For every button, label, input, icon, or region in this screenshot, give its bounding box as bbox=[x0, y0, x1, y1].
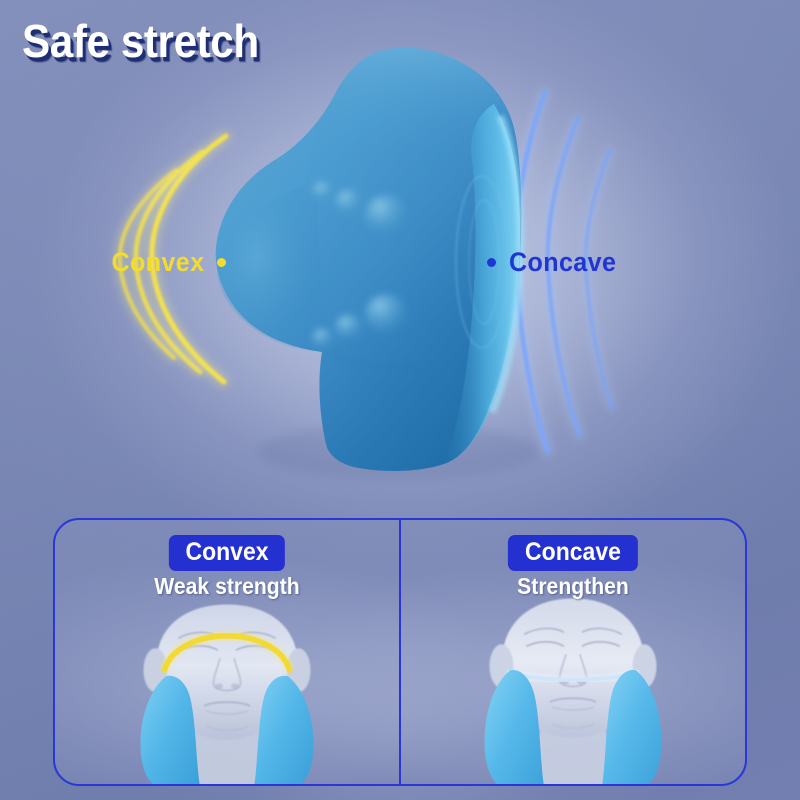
panel-convex[interactable]: Convex Weak strength bbox=[55, 520, 399, 784]
callout-concave: Concave bbox=[487, 247, 620, 278]
infographic-page: Safe stretch bbox=[0, 0, 800, 800]
panel-concave[interactable]: Concave Strengthen bbox=[399, 520, 745, 784]
hero-product-illustration: Convex Concave bbox=[0, 0, 800, 510]
callout-concave-label: Concave bbox=[509, 247, 616, 278]
panel-concave-caption: Strengthen bbox=[512, 573, 633, 600]
callout-convex-label: Convex bbox=[111, 247, 204, 278]
panel-convex-badge: Convex bbox=[169, 535, 285, 571]
callout-convex-dot bbox=[217, 258, 226, 267]
panel-convex-illustration bbox=[55, 598, 399, 784]
callout-concave-dot bbox=[487, 258, 496, 267]
panel-concave-illustration bbox=[401, 598, 745, 784]
comparison-panels: Convex Weak strength bbox=[53, 518, 747, 786]
panel-convex-caption: Weak strength bbox=[148, 573, 306, 600]
callout-convex: Convex bbox=[108, 247, 226, 278]
panel-concave-badge: Concave bbox=[508, 535, 638, 571]
